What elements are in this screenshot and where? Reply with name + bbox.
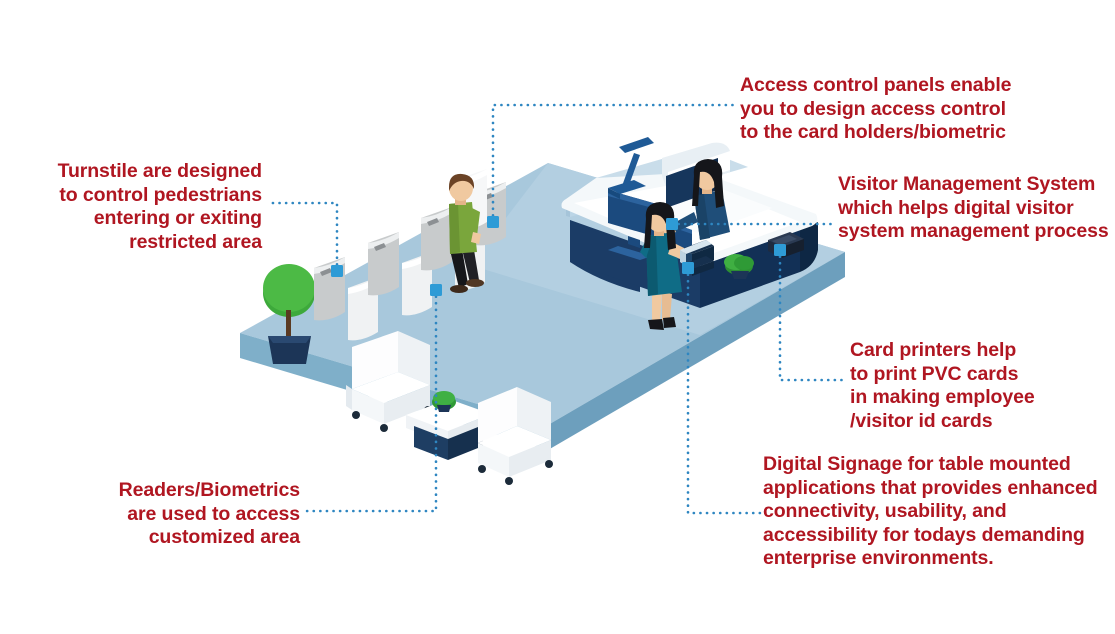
turnstile-gate-3 xyxy=(421,207,452,270)
readers-marker xyxy=(430,284,442,296)
turnstile-connector xyxy=(272,203,337,271)
callout-readers-biometrics-text: Readers/Biometrics are used to access cu… xyxy=(100,479,300,550)
access-control-marker xyxy=(487,216,499,228)
visitor-marker xyxy=(666,218,678,230)
callout-digital-signage-text: Digital Signage for table mounted applic… xyxy=(763,453,1108,571)
callout-turnstile-text: Turnstile are designed to control pedest… xyxy=(22,160,262,254)
infographic-canvas: Turnstile are designed to control pedest… xyxy=(0,0,1115,634)
lounge-armchair-right xyxy=(478,387,553,485)
callout-visitor-management-text: Visitor Management System which helps di… xyxy=(838,173,1115,244)
digital-signage-marker xyxy=(682,262,694,274)
card-printer-marker xyxy=(774,244,786,256)
callout-access-control-text: Access control panels enable you to desi… xyxy=(740,74,1110,145)
callout-card-printer-text: Card printers help to print PVC cards in… xyxy=(850,339,1100,433)
turnstile-gate-2 xyxy=(368,232,399,295)
turnstile-marker xyxy=(331,265,343,277)
